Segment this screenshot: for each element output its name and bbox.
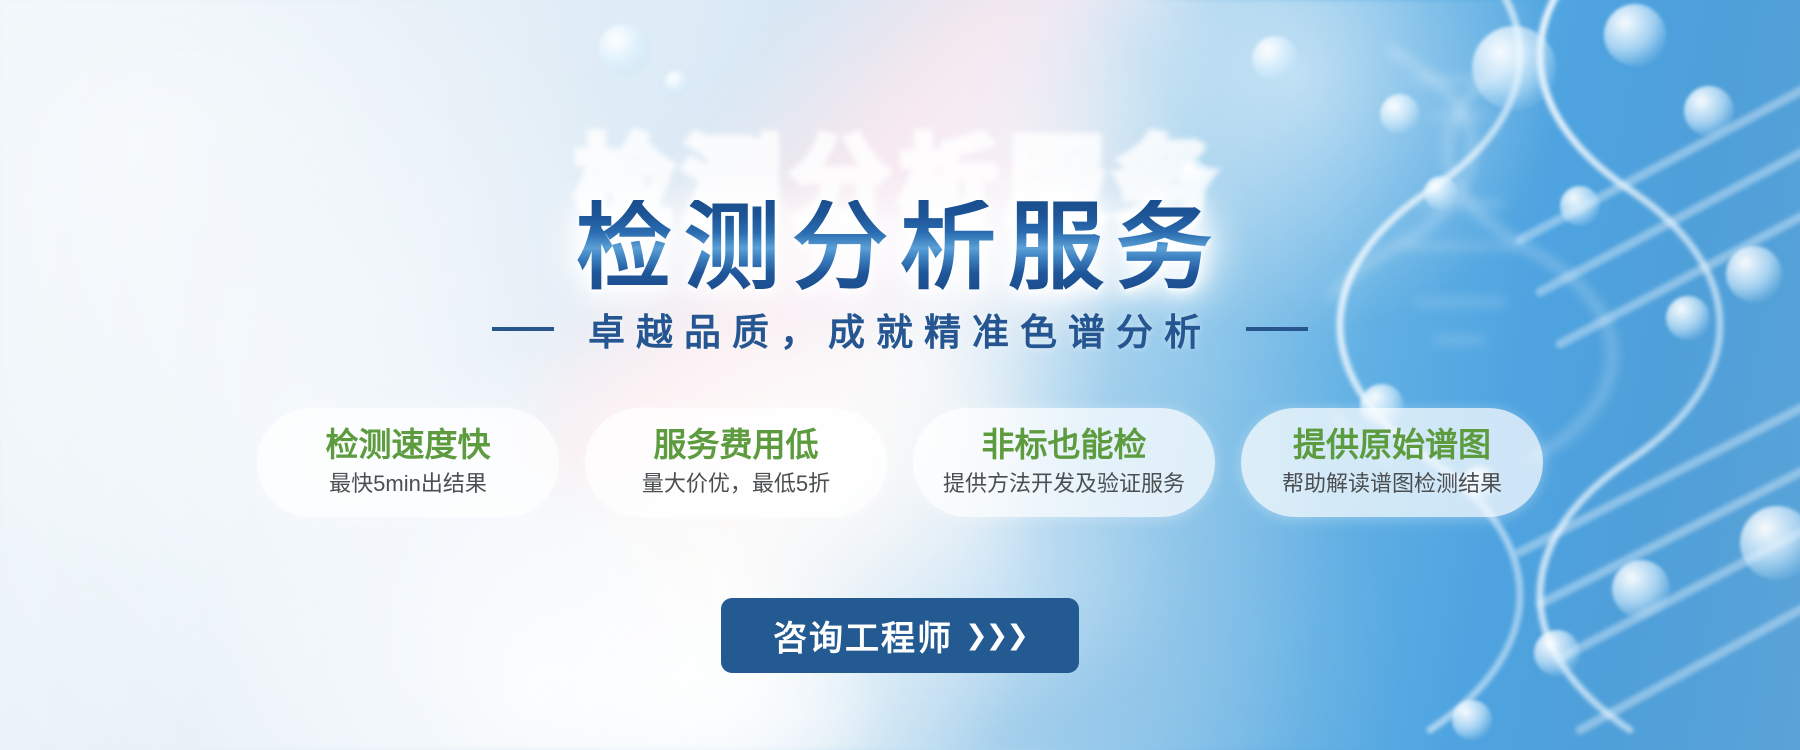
consult-engineer-button-label: 咨询工程师	[773, 611, 953, 660]
hero-banner: 检测分析服务 检测分析服务 卓越品质，成就精准色谱分析 检测速度快 最快5min…	[0, 0, 1800, 750]
feature-pill-list: 检测速度快 最快5min出结果 服务费用低 量大价优，最低5折 非标也能检 提供…	[0, 408, 1800, 517]
subtitle-right-dash-icon	[1246, 327, 1308, 331]
feature-pill[interactable]: 服务费用低 量大价优，最低5折	[585, 408, 887, 517]
feature-pill-subtitle: 帮助解读谱图检测结果	[1271, 470, 1513, 499]
page-subtitle: 卓越品质，成就精准色谱分析	[588, 302, 1212, 356]
feature-pill-title: 提供原始谱图	[1271, 424, 1513, 466]
banner-content: 检测分析服务 检测分析服务 卓越品质，成就精准色谱分析 检测速度快 最快5min…	[0, 0, 1800, 750]
cta-row: 咨询工程师 ❯❯❯	[0, 598, 1800, 673]
feature-pill-subtitle: 量大价优，最低5折	[615, 470, 857, 499]
feature-pill-subtitle: 最快5min出结果	[287, 470, 529, 499]
feature-pill[interactable]: 非标也能检 提供方法开发及验证服务	[913, 408, 1215, 517]
subtitle-row: 卓越品质，成就精准色谱分析	[0, 302, 1800, 356]
feature-pill-title: 服务费用低	[615, 424, 857, 466]
feature-pill-title: 非标也能检	[943, 424, 1185, 466]
feature-pill-title: 检测速度快	[287, 424, 529, 466]
page-title: 检测分析服务	[0, 200, 1800, 296]
feature-pill[interactable]: 提供原始谱图 帮助解读谱图检测结果	[1241, 408, 1543, 517]
subtitle-left-dash-icon	[492, 327, 554, 331]
feature-pill-subtitle: 提供方法开发及验证服务	[943, 470, 1185, 499]
chevron-right-triple-icon: ❯❯❯	[965, 620, 1027, 651]
feature-pill[interactable]: 检测速度快 最快5min出结果	[257, 408, 559, 517]
consult-engineer-button[interactable]: 咨询工程师 ❯❯❯	[721, 598, 1079, 673]
